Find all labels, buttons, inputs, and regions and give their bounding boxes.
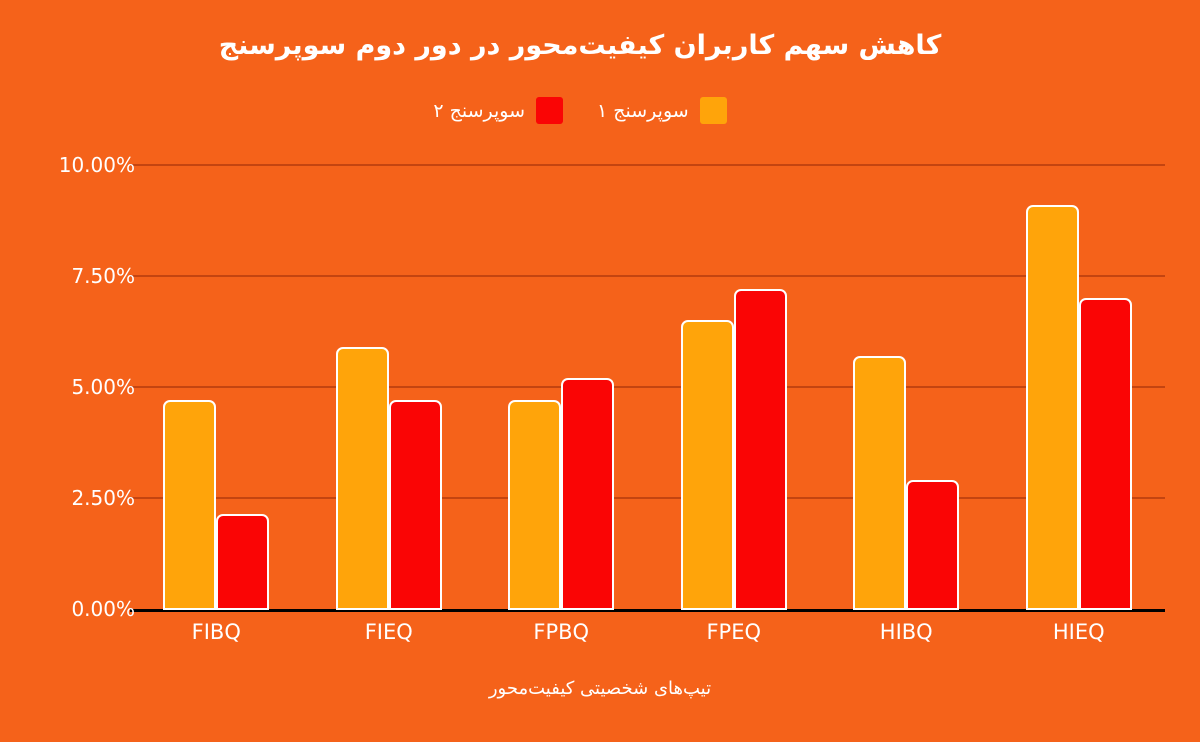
bar-hibq-series-1[interactable]	[853, 356, 906, 610]
x-tick-label-fieq: FIEQ	[309, 620, 469, 644]
bar-fibq-series-1[interactable]	[163, 400, 216, 610]
x-tick-label-fpeq: FPEQ	[654, 620, 814, 644]
bar-fieq-series-1[interactable]	[336, 347, 389, 610]
bar-fieq-series-2[interactable]	[389, 400, 442, 610]
x-tick-label-hieq: HIEQ	[999, 620, 1159, 644]
bar-chart: کاهش سهم کاربران کیفیت‌محور در دور دوم س…	[0, 0, 1200, 742]
x-tick-label-hibq: HIBQ	[826, 620, 986, 644]
x-axis-title: تیپ‌های شخصیتی کیفیت‌محور	[0, 678, 1200, 699]
bar-hieq-series-1[interactable]	[1026, 205, 1079, 610]
bar-hibq-series-2[interactable]	[906, 480, 959, 610]
bar-hieq-series-2[interactable]	[1079, 298, 1132, 610]
bar-fibq-series-2[interactable]	[216, 514, 269, 610]
x-tick-label-fibq: FIBQ	[136, 620, 296, 644]
bar-fpeq-series-2[interactable]	[734, 289, 787, 610]
bar-fpbq-series-1[interactable]	[508, 400, 561, 610]
x-tick-label-fpbq: FPBQ	[481, 620, 641, 644]
plot-area: 0.00%2.50%5.00%7.50%10.00% FIBQFIEQFPBQF…	[0, 0, 1200, 742]
bar-fpbq-series-2[interactable]	[561, 378, 614, 610]
bar-fpeq-series-1[interactable]	[681, 320, 734, 610]
